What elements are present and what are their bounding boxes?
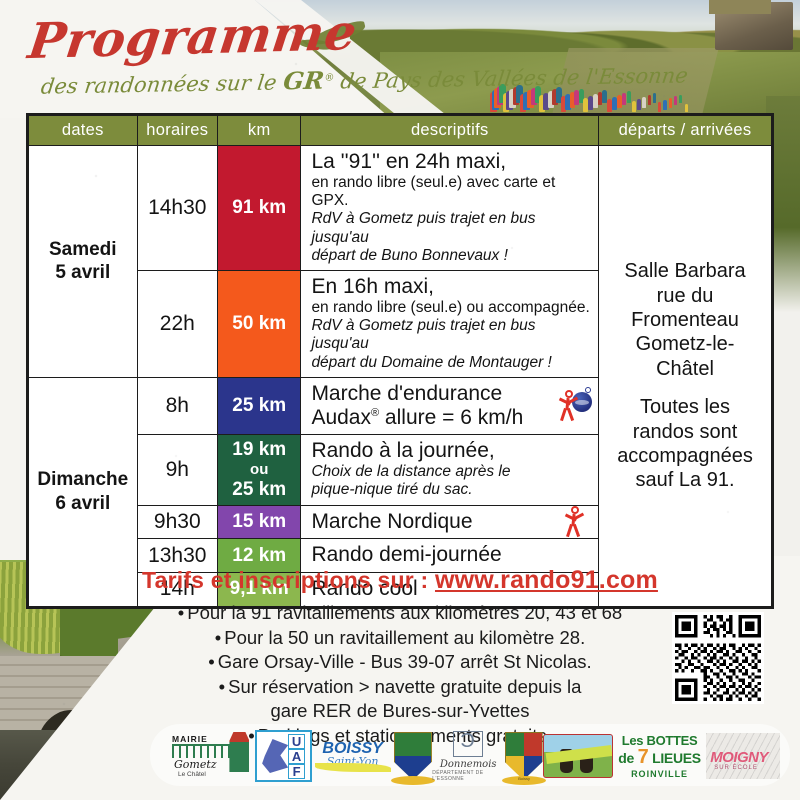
- mairie-comb-icon: [172, 744, 230, 758]
- description-cell: Marche Nordique: [301, 505, 599, 539]
- table-row: Samedi 5 avril 14h30 91 km La ''91'' en …: [29, 146, 772, 271]
- departure-note-3: accompagnées: [617, 445, 753, 467]
- description-sub-1: en rando libre (seul.e) avec carte et GP…: [311, 174, 590, 211]
- photo-barn: [715, 2, 793, 50]
- moigny-subtitle: SUR ÉCOLE: [714, 765, 758, 771]
- bullet-text: Pour la 91 ravitaillements aux kilomètre…: [187, 602, 622, 623]
- column-header-descriptifs: descriptifs: [301, 116, 599, 146]
- subtitle-gr: GR: [282, 66, 326, 96]
- day-label-line1: Dimanche: [37, 469, 128, 490]
- departure-cell: Salle Barbara rue du Fromenteau Gometz-l…: [599, 146, 772, 607]
- bullet-text: Gare Orsay-Ville - Bus 39-07 arrêt St Ni…: [218, 651, 592, 672]
- description-title: Marche Nordique: [311, 510, 590, 534]
- description-title: La ''91'' en 24h maxi,: [311, 150, 590, 174]
- globe-dot-icon: [585, 387, 591, 393]
- departure-line-4: Gometz-le-: [636, 333, 735, 355]
- bullet-icon: •: [208, 651, 214, 672]
- departure-line-2: rue du: [657, 285, 714, 307]
- logo-commune-shield-2: Boissy: [504, 731, 543, 781]
- uaf-letter-f: F: [288, 764, 305, 779]
- description-title: Rando à la journée,: [311, 439, 590, 463]
- audax-pace: allure = 6 km/h: [379, 406, 523, 429]
- hiker-icon-slot: [556, 504, 592, 540]
- departure-line-5: Châtel: [656, 358, 714, 380]
- logo-mairie-gometz-le-chatel: MAIRIE Gometz Le Châtel: [168, 730, 255, 782]
- description-cell: La ''91'' en 24h maxi, en rando libre (s…: [301, 146, 599, 271]
- km-badge: 19 km ou 25 km: [218, 435, 301, 505]
- km-badge: 15 km: [218, 505, 301, 539]
- description-cell: Marche d'endurance Audax® allure = 6 km/…: [301, 377, 599, 434]
- bottes-lieues: LIEUES: [652, 750, 701, 766]
- description-sub-italic-2: départ de Buno Bonnevaux !: [311, 247, 590, 265]
- bullet-text: gare RER de Bures-sur-Yvettes: [270, 700, 529, 721]
- bottes-line-2: de 7 LIEUES: [618, 746, 701, 769]
- uaf-letters: U A F: [288, 734, 305, 779]
- bottes-seven: 7: [638, 746, 649, 768]
- bullet-text: Pour la 50 un ravitaillement au kilomètr…: [224, 627, 585, 648]
- hiker-icon: [558, 390, 582, 422]
- schedule-table-body: Samedi 5 avril 14h30 91 km La ''91'' en …: [29, 146, 772, 607]
- hiker-icon: [564, 506, 588, 538]
- departure-line-3: Fromenteau: [631, 309, 739, 331]
- description-sub-italic-2: pique-nique tiré du sac.: [311, 481, 590, 499]
- subtitle-pre: des randonnées sur le: [40, 70, 285, 98]
- donnemois-mark-icon: [453, 731, 483, 757]
- logo-donnemois: Donnemois DÉPARTEMENT DE L'ESSONNE: [432, 730, 504, 782]
- description-sub-italic-1: RdV à Gometz puis trajet en bus jusqu'au: [311, 317, 590, 354]
- logo-uaf: U A F: [255, 730, 311, 782]
- shield-banner: Boissy: [502, 776, 546, 785]
- km-badge: 91 km: [218, 146, 301, 271]
- departure-note-4: sauf La 91.: [636, 469, 735, 491]
- promo-title-prefix: Tarifs et inscriptions sur :: [142, 567, 435, 593]
- shield-icon: [505, 732, 543, 780]
- tower-icon: [229, 732, 249, 772]
- description-title: Rando demi-journée: [311, 543, 590, 567]
- logo-moigny-sur-ecole: MOIGNY SUR ÉCOLE: [706, 733, 780, 779]
- website-link[interactable]: www.rando91.com: [435, 566, 658, 594]
- km-badge: 25 km: [218, 377, 301, 434]
- hiker-globe-icon: [556, 388, 592, 424]
- photo-badge-ribbon: [546, 745, 613, 764]
- moigny-title: MOIGNY: [710, 749, 768, 766]
- description-sub-italic-1: Choix de la distance après le: [311, 463, 590, 481]
- donnemois-subtitle: DÉPARTEMENT DE L'ESSONNE: [432, 770, 504, 782]
- bullet-icon: •: [219, 676, 225, 697]
- eagle-icon: [262, 739, 288, 773]
- poster-canvas: Programme des randonnées sur le GR® de P…: [0, 0, 800, 800]
- mairie-town-name: Gometz: [174, 758, 217, 771]
- hour-cell: 14h30: [137, 146, 217, 271]
- logo-boissy-saint-yon: BOISSY Saint-Yon: [312, 730, 394, 782]
- logo-commune-shield-1: [393, 731, 432, 781]
- mairie-label: MAIRIE: [172, 734, 208, 744]
- day-cell-samedi: Samedi 5 avril: [29, 146, 138, 378]
- uaf-letter-u: U: [288, 734, 305, 749]
- poster-headline: Programme des randonnées sur le GR® de P…: [30, 8, 687, 94]
- subtitle-post: de Pays des Vallées de l'Essonne: [332, 63, 689, 93]
- logo-randonnee-photo-badge: [543, 734, 613, 778]
- km-value-1: 19 km: [232, 439, 286, 460]
- km-separator: ou: [218, 461, 300, 479]
- departure-line-1: Salle Barbara: [624, 260, 745, 282]
- table-header-row: dates horaires km descriptifs départs / …: [29, 116, 772, 146]
- departure-spacer: [603, 381, 767, 395]
- schedule-table-container: dates horaires km descriptifs départs / …: [26, 113, 774, 609]
- bullet-text: Sur réservation > navette gratuite depui…: [228, 676, 581, 697]
- audax-label: Audax: [311, 406, 371, 429]
- hour-cell: 22h: [137, 271, 217, 378]
- page-title: Programme: [25, 0, 691, 66]
- partner-logos: MAIRIE Gometz Le Châtel U A F BOISSY Sai…: [168, 728, 780, 784]
- description-sub-1: en rando libre (seul.e) ou accompagnée.: [311, 299, 590, 317]
- schedule-table: dates horaires km descriptifs départs / …: [28, 115, 772, 607]
- km-badge: 50 km: [218, 271, 301, 378]
- column-header-dates: dates: [29, 116, 138, 146]
- hour-cell: 9h30: [137, 505, 217, 539]
- qr-code[interactable]: [672, 612, 764, 704]
- km-value-2: 25 km: [232, 479, 286, 500]
- description-cell: Rando à la journée, Choix de la distance…: [301, 435, 599, 505]
- uaf-letter-a: A: [288, 749, 305, 764]
- hour-cell: 8h: [137, 377, 217, 434]
- hour-cell: 9h: [137, 435, 217, 505]
- column-header-km: km: [218, 116, 301, 146]
- swash-icon: [315, 763, 391, 772]
- day-label-line1: Samedi: [49, 239, 117, 260]
- registered-icon: ®: [371, 407, 379, 419]
- shield-banner: [391, 776, 435, 785]
- bottes-de: de: [618, 750, 634, 766]
- day-label-line2: 5 avril: [55, 262, 110, 283]
- donnemois-title: Donnemois: [440, 759, 497, 770]
- logo-les-bottes-de-7-lieues: Les BOTTES de 7 LIEUES ROINVILLE: [613, 730, 706, 782]
- bottes-line-3: ROINVILLE: [631, 769, 688, 779]
- departure-note-2: randos sont: [633, 421, 738, 443]
- column-header-horaires: horaires: [137, 116, 217, 146]
- description-cell: En 16h maxi, en rando libre (seul.e) ou …: [301, 271, 599, 378]
- bullet-icon: •: [178, 602, 184, 623]
- description-title: En 16h maxi,: [311, 275, 590, 299]
- description-title-2: Audax® allure = 6 km/h: [311, 406, 590, 430]
- promo-title: Tarifs et inscriptions sur : www.rando91…: [0, 566, 800, 595]
- day-label-line2: 6 avril: [55, 493, 110, 514]
- description-title: Marche d'endurance: [311, 382, 590, 406]
- description-sub-italic-1: RdV à Gometz puis trajet en bus jusqu'au: [311, 210, 590, 247]
- departure-note-1: Toutes les: [640, 396, 730, 418]
- column-header-departs: départs / arrivées: [599, 116, 772, 146]
- shield-icon: [394, 732, 432, 780]
- mairie-town-sub: Le Châtel: [178, 771, 206, 778]
- description-sub-italic-2: départ du Domaine de Montauger !: [311, 354, 590, 372]
- bullet-icon: •: [215, 627, 221, 648]
